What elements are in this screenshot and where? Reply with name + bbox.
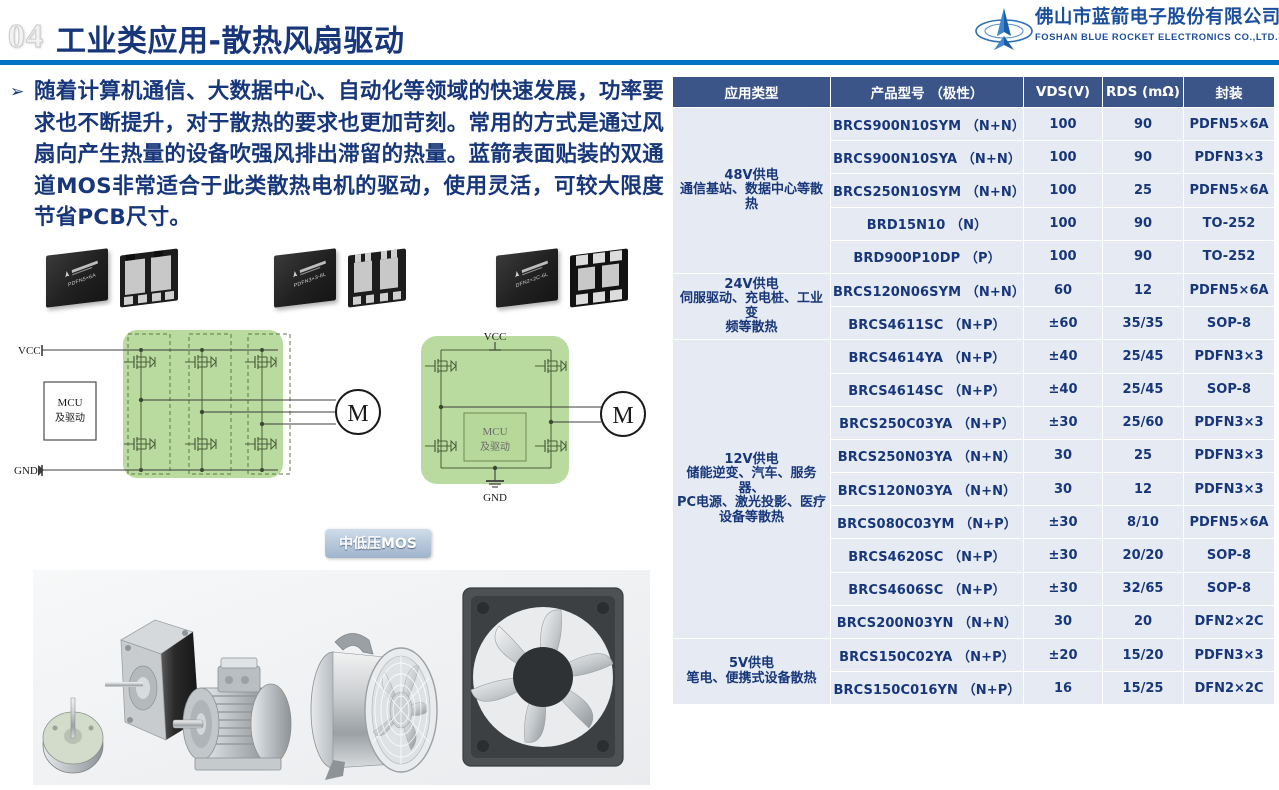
application-group-cell: 12V供电储能逆变、汽车、服务器、PC电源、激光投影、医疗设备等散热 <box>673 340 831 639</box>
cell-rds: 35/35 <box>1103 307 1184 340</box>
cell-rds: 25 <box>1103 439 1184 472</box>
cell-package: DFN2×2C <box>1184 605 1275 638</box>
cell-vds: 100 <box>1024 141 1103 174</box>
package-photo-strip: PDFN5×6A PDFN3×3-8L <box>40 246 660 314</box>
cell-vds: ±40 <box>1024 340 1103 373</box>
cell-model: BRD15N10 （N） <box>831 207 1024 240</box>
cell-package: TO-252 <box>1184 240 1275 273</box>
vcc-label-right: VCC <box>484 331 507 343</box>
title-divider <box>0 60 1279 65</box>
cell-package: PDFN3×3 <box>1184 141 1275 174</box>
circuit-left-three-phase: VCC GND MCU 及驱动 <box>14 330 380 478</box>
left-content-panel: ➢ 随着计算机通信、大数据中心、自动化等领域的快速发展，功率要求也不断提升，对于… <box>0 70 665 720</box>
cell-vds: 100 <box>1024 108 1103 141</box>
cell-model: BRCS120N06SYM （N+N） <box>831 273 1024 306</box>
cell-rds: 12 <box>1103 473 1184 506</box>
cell-package: PDFN5×6A <box>1184 108 1275 141</box>
cell-vds: 30 <box>1024 439 1103 472</box>
cell-rds: 20/20 <box>1103 539 1184 572</box>
mcu-label-left: MCU <box>57 397 82 409</box>
cell-rds: 32/65 <box>1103 572 1184 605</box>
axial-duct-fan-photo <box>311 633 437 780</box>
bullet-arrow-icon: ➢ <box>10 82 24 102</box>
cell-model: BRCS250N03YA （N+N） <box>831 439 1024 472</box>
product-photo-band <box>33 570 650 785</box>
package-photo-pdfn5x6a: PDFN5×6A <box>40 246 210 314</box>
body-text: 随着计算机通信、大数据中心、自动化等领域的快速发展，功率要求也不断提升，对于散热… <box>34 76 664 234</box>
cell-vds: ±20 <box>1024 639 1103 672</box>
slide-header: 04 工业类应用-散热风扇驱动 佛山市蓝箭电子股份有限公司 FOSHAN BLU… <box>0 0 1279 64</box>
cell-rds: 25/60 <box>1103 406 1184 439</box>
cell-rds: 25 <box>1103 174 1184 207</box>
cell-vds: 100 <box>1024 240 1103 273</box>
cell-rds: 90 <box>1103 207 1184 240</box>
cell-vds: 60 <box>1024 273 1103 306</box>
cell-vds: ±30 <box>1024 506 1103 539</box>
cell-package: PDFN3×3 <box>1184 639 1275 672</box>
cell-vds: ±60 <box>1024 307 1103 340</box>
cell-vds: 100 <box>1024 174 1103 207</box>
cell-model: BRCS4614YA （N+P） <box>831 340 1024 373</box>
company-logo: 佛山市蓝箭电子股份有限公司 FOSHAN BLUE ROCKET ELECTRO… <box>973 4 1273 54</box>
page-title: 工业类应用-散热风扇驱动 <box>56 16 404 60</box>
package-photo-pdfn3x3: PDFN3×3-8L <box>268 246 438 314</box>
cell-package: PDFN5×6A <box>1184 506 1275 539</box>
cell-vds: 100 <box>1024 207 1103 240</box>
cell-package: PDFN5×6A <box>1184 174 1275 207</box>
mcu-label-right: MCU <box>482 426 507 438</box>
cell-model: BRCS150C016YN （N+P） <box>831 672 1024 705</box>
mcu-sub-label-left: 及驱动 <box>55 412 85 424</box>
cell-rds: 20 <box>1103 605 1184 638</box>
cell-model: BRCS900N10SYA （N+N） <box>831 141 1024 174</box>
package-body: PDFN5×6A <box>46 248 108 308</box>
slide-number: 04 <box>8 18 44 56</box>
cell-model: BRCS4611SC （N+P） <box>831 307 1024 340</box>
gnd-label-right: GND <box>483 492 507 504</box>
square-case-fan-photo <box>463 588 623 766</box>
product-spec-table: 应用类型 产品型号 （极性） VDS(V) RDS (mΩ) 封装 48V供电通… <box>672 76 1275 705</box>
package-pins-view <box>118 246 180 310</box>
cell-rds: 90 <box>1103 108 1184 141</box>
cell-model: BRCS250C03YA （N+P） <box>831 406 1024 439</box>
cell-vds: 16 <box>1024 672 1103 705</box>
cell-model: BRCS150C02YA （N+P） <box>831 639 1024 672</box>
cell-package: PDFN3×3 <box>1184 439 1275 472</box>
cell-vds: ±30 <box>1024 572 1103 605</box>
small-dc-motor-photo <box>43 698 103 773</box>
cell-model: BRCS4606SC （N+P） <box>831 572 1024 605</box>
cell-model: BRCS4620SC （N+P） <box>831 539 1024 572</box>
application-group-cell: 5V供电笔电、便携式设备散热 <box>673 639 831 705</box>
cell-model: BRCS080C03YM （N+P） <box>831 506 1024 539</box>
blue-rocket-logo-icon <box>973 6 1035 52</box>
cell-rds: 90 <box>1103 240 1184 273</box>
cell-rds: 8/10 <box>1103 506 1184 539</box>
motor-label-left: M <box>347 401 368 427</box>
cell-vds: ±30 <box>1024 406 1103 439</box>
package-body: PDFN3×3-8L <box>274 248 336 308</box>
mcu-sub-label-right: 及驱动 <box>480 441 510 453</box>
cell-vds: 30 <box>1024 473 1103 506</box>
cell-vds: 30 <box>1024 605 1103 638</box>
table-row: 48V供电通信基站、数据中心等散热BRCS900N10SYM （N+N）1009… <box>673 108 1275 141</box>
package-body: DFN2×2C-6L <box>496 248 558 308</box>
cell-model: BRCS900N10SYM （N+N） <box>831 108 1024 141</box>
column-header-application: 应用类型 <box>673 77 831 108</box>
motor-label-right: M <box>612 403 633 429</box>
column-header-model: 产品型号 （极性） <box>831 77 1024 108</box>
cell-model: BRD900P10DP （P） <box>831 240 1024 273</box>
table-body: 48V供电通信基站、数据中心等散热BRCS900N10SYM （N+N）1009… <box>673 108 1275 705</box>
logo-text-block: 佛山市蓝箭电子股份有限公司 FOSHAN BLUE ROCKET ELECTRO… <box>1035 7 1273 43</box>
cell-package: SOP-8 <box>1184 572 1275 605</box>
logo-company-en: FOSHAN BLUE ROCKET ELECTRONICS CO.,LTD. <box>1035 30 1273 43</box>
column-header-vds: VDS(V) <box>1024 77 1103 108</box>
cell-vds: ±30 <box>1024 539 1103 572</box>
table-row: 24V供电伺服驱动、充电桩、工业变频等散热BRCS120N06SYM （N+N）… <box>673 273 1275 306</box>
cell-model: BRCS250N10SYM （N+N） <box>831 174 1024 207</box>
cell-package: SOP-8 <box>1184 307 1275 340</box>
table-row: 12V供电储能逆变、汽车、服务器、PC电源、激光投影、医疗设备等散热BRCS46… <box>673 340 1275 373</box>
column-header-package: 封装 <box>1184 77 1275 108</box>
cell-model: BRCS4614SC （N+P） <box>831 373 1024 406</box>
cell-rds: 15/20 <box>1103 639 1184 672</box>
cell-package: SOP-8 <box>1184 373 1275 406</box>
cell-vds: ±40 <box>1024 373 1103 406</box>
cell-package: PDFN3×3 <box>1184 473 1275 506</box>
package-pins-view <box>568 246 630 310</box>
mos-callout-badge: 中低压MOS <box>325 529 431 558</box>
table-row: 5V供电笔电、便携式设备散热BRCS150C02YA （N+P）±2015/20… <box>673 639 1275 672</box>
cell-rds: 25/45 <box>1103 373 1184 406</box>
cell-package: DFN2×2C <box>1184 672 1275 705</box>
table-header-row: 应用类型 产品型号 （极性） VDS(V) RDS (mΩ) 封装 <box>673 77 1275 108</box>
cell-model: BRCS120N03YA （N+N） <box>831 473 1024 506</box>
cell-rds: 90 <box>1103 141 1184 174</box>
circuit-diagrams: VCC GND MCU 及驱动 <box>6 318 661 508</box>
cell-package: PDFN5×6A <box>1184 273 1275 306</box>
application-group-cell: 24V供电伺服驱动、充电桩、工业变频等散热 <box>673 273 831 339</box>
application-group-cell: 48V供电通信基站、数据中心等散热 <box>673 108 831 274</box>
gnd-label-left: GND <box>14 465 38 477</box>
cell-package: TO-252 <box>1184 207 1275 240</box>
cell-rds: 15/25 <box>1103 672 1184 705</box>
cell-package: PDFN3×3 <box>1184 340 1275 373</box>
cell-package: SOP-8 <box>1184 539 1275 572</box>
circuit-right-h-bridge: VCC MCU 及驱动 <box>421 331 645 504</box>
cell-rds: 25/45 <box>1103 340 1184 373</box>
cell-package: PDFN3×3 <box>1184 406 1275 439</box>
package-photo-dfn2x2c: DFN2×2C-6L <box>490 246 660 314</box>
cell-rds: 12 <box>1103 273 1184 306</box>
package-pins-view <box>346 246 408 310</box>
logo-company-cn: 佛山市蓝箭电子股份有限公司 <box>1035 7 1273 29</box>
cell-model: BRCS200N03YN （N+N） <box>831 605 1024 638</box>
vcc-label-left: VCC <box>18 345 41 357</box>
column-header-rds: RDS (mΩ) <box>1103 77 1184 108</box>
